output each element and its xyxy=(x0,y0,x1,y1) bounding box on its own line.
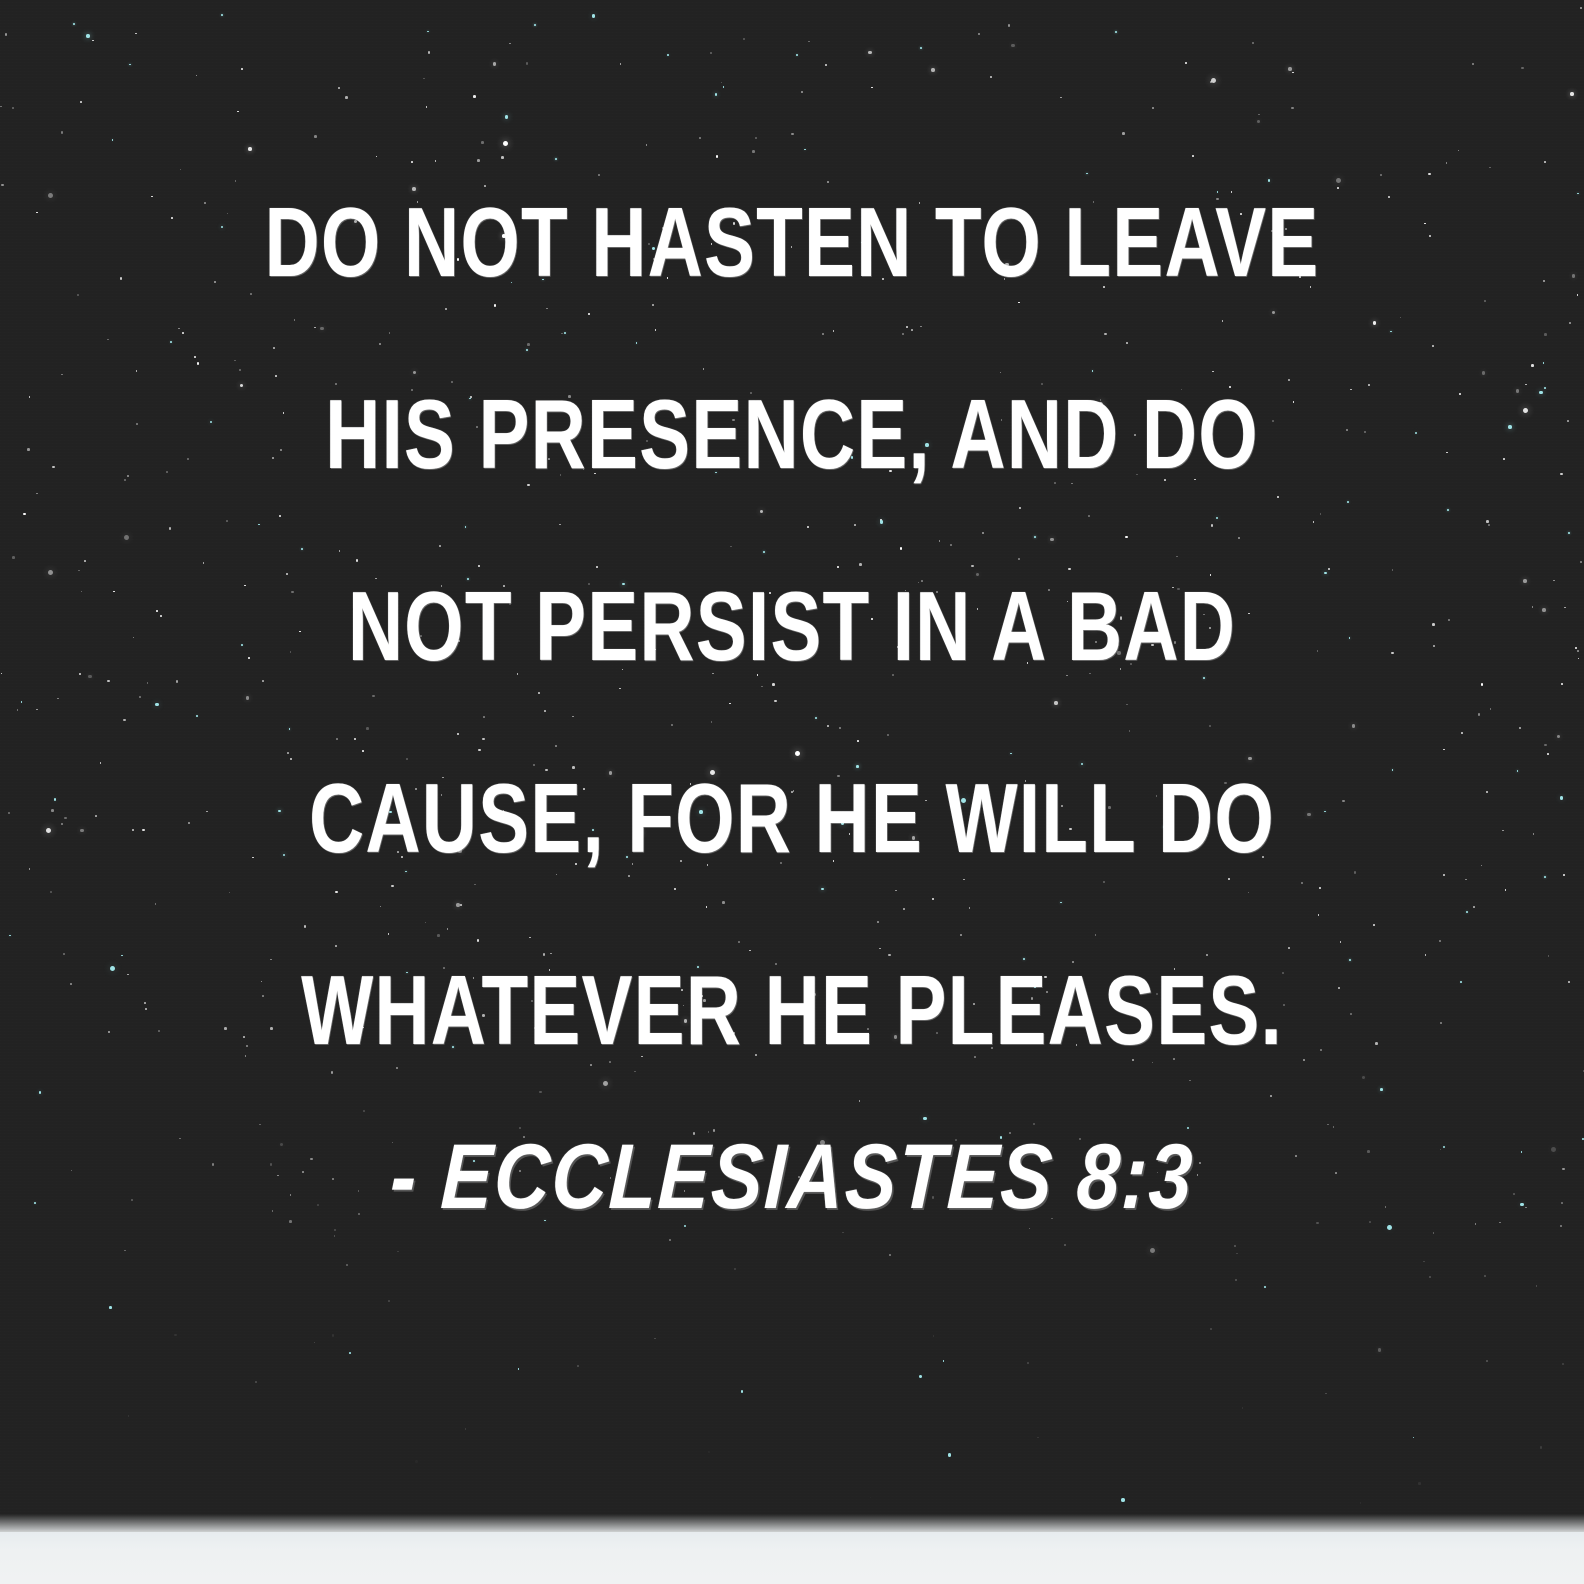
verse-attribution: - ECCLESIASTES 8:3 xyxy=(0,1122,1584,1232)
verse-line-1: DO NOT HASTEN TO LEAVE xyxy=(174,146,1410,338)
verse-line-3: NOT PERSIST IN A BAD xyxy=(174,530,1410,722)
horizon-band xyxy=(0,1532,1584,1584)
verse-image-canvas: DO NOT HASTEN TO LEAVE HIS PRESENCE, AND… xyxy=(0,0,1584,1584)
verse-line-2: HIS PRESENCE, AND DO xyxy=(174,338,1410,530)
attribution-text: - ECCLESIASTES 8:3 xyxy=(388,1122,1196,1232)
verse-line-5: WHATEVER HE PLEASES. xyxy=(174,914,1410,1106)
verse-text-block: DO NOT HASTEN TO LEAVE HIS PRESENCE, AND… xyxy=(0,146,1584,1106)
verse-line-4: CAUSE, FOR HE WILL DO xyxy=(174,722,1410,914)
